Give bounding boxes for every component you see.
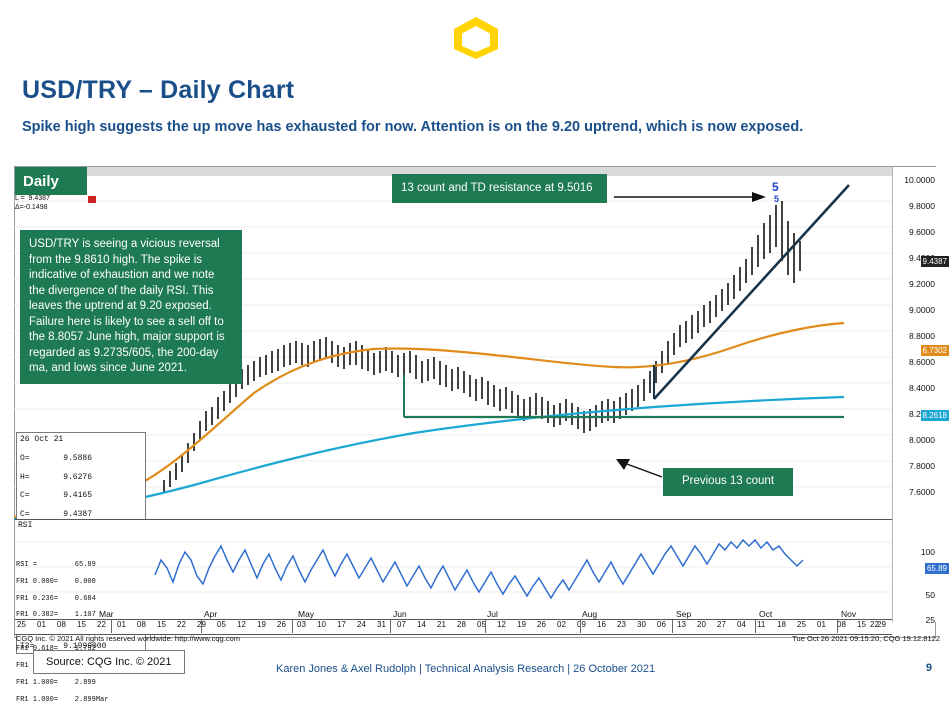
y-tick-0: 10.0000 bbox=[904, 175, 935, 185]
td-count-label-5-small: 5 bbox=[774, 194, 779, 204]
x-tick-6: 08 bbox=[137, 620, 146, 629]
x-month-may: May bbox=[298, 609, 314, 619]
x-month-nov: Nov bbox=[841, 609, 856, 619]
x-tick-25: 19 bbox=[517, 620, 526, 629]
y-tick-2: 9.6000 bbox=[909, 227, 935, 237]
x-tick-18: 31 bbox=[377, 620, 386, 629]
x-tick-36: 04 bbox=[737, 620, 746, 629]
x-tick-19: 07 bbox=[397, 620, 406, 629]
x-tick-38: 18 bbox=[777, 620, 786, 629]
x-month-jul: Jul bbox=[487, 609, 498, 619]
annotation-main-note: USD/TRY is seeing a vicious reversal fro… bbox=[20, 230, 242, 384]
x-tick-28: 09 bbox=[577, 620, 586, 629]
x-tick-37: 11 bbox=[757, 620, 765, 629]
rsi-plot bbox=[15, 520, 892, 619]
page-subtitle: Spike high suggests the up move has exha… bbox=[22, 116, 922, 138]
x-tick-13: 26 bbox=[277, 620, 286, 629]
price-tag-last: 9.4387 bbox=[921, 256, 949, 267]
x-tick-22: 28 bbox=[457, 620, 466, 629]
price-tag-support: 8.2618 bbox=[921, 410, 949, 421]
price-tag-rsi: 65.89 bbox=[925, 563, 949, 574]
x-tick-26: 26 bbox=[537, 620, 546, 629]
date-axis[interactable]: Mar Apr May Jun Jul Aug Sep Oct Nov 25 0… bbox=[15, 619, 892, 635]
author-credit: Karen Jones & Axel Rudolph | Technical A… bbox=[276, 663, 655, 675]
annotation-previous-count: Previous 13 count bbox=[663, 468, 793, 496]
rsi-tick-2: 50 bbox=[926, 590, 935, 600]
rsi-tick-3: 25 bbox=[926, 615, 935, 625]
x-tick-17: 24 bbox=[357, 620, 366, 629]
x-tick-34: 20 bbox=[697, 620, 706, 629]
source-box: Source: CQG Inc. © 2021 bbox=[33, 650, 185, 674]
x-tick-39: 25 bbox=[797, 620, 806, 629]
x-tick-2: 08 bbox=[57, 620, 66, 629]
quote-line-2: C= 9.4165 bbox=[20, 491, 92, 500]
quote-line-3: C= 9.4387 bbox=[20, 510, 92, 519]
y-tick-8: 8.4000 bbox=[909, 383, 935, 393]
price-tag-ma200: 6.7302 bbox=[921, 345, 949, 356]
x-tick-42: 15 bbox=[857, 620, 866, 629]
commerzbank-logo bbox=[448, 14, 504, 62]
x-tick-1: 01 bbox=[37, 620, 46, 629]
y-tick-7: 8.6000 bbox=[909, 357, 935, 367]
x-sep-5 bbox=[580, 620, 581, 633]
x-sep-0 bbox=[111, 620, 112, 633]
cqg-copyright: CGQ Inc. © 2021 All rights reserved worl… bbox=[16, 634, 240, 643]
x-tick-20: 14 bbox=[417, 620, 426, 629]
x-tick-0: 25 bbox=[17, 620, 26, 629]
x-tick-21: 21 bbox=[437, 620, 446, 629]
x-tick-44: 29 bbox=[877, 620, 886, 629]
x-tick-24: 12 bbox=[497, 620, 506, 629]
x-tick-3: 15 bbox=[77, 620, 86, 629]
rsi-line-8: FR1 1.000= 2.899Mar bbox=[16, 696, 108, 704]
x-tick-32: 06 bbox=[657, 620, 666, 629]
x-tick-27: 02 bbox=[557, 620, 566, 629]
x-tick-10: 05 bbox=[217, 620, 226, 629]
x-month-sep: Sep bbox=[676, 609, 691, 619]
x-month-oct: Oct bbox=[759, 609, 772, 619]
x-tick-31: 30 bbox=[637, 620, 646, 629]
x-tick-8: 22 bbox=[177, 620, 186, 629]
y-tick-10: 8.0000 bbox=[909, 435, 935, 445]
page-number: 9 bbox=[926, 662, 932, 674]
rsi-line-1: FR1 0.000= 0.000 bbox=[16, 578, 96, 586]
y-tick-6: 8.8000 bbox=[909, 331, 935, 341]
rsi-line-7: FR1 1.000= 2.899 bbox=[16, 679, 96, 687]
x-tick-35: 27 bbox=[717, 620, 726, 629]
rsi-line-0: RSI = 65.89 bbox=[16, 561, 96, 569]
annotation-td-note: 13 count and TD resistance at 9.5016 bbox=[392, 174, 607, 203]
x-sep-8 bbox=[837, 620, 838, 633]
x-tick-29: 16 bbox=[597, 620, 606, 629]
chart-timeframe-tab[interactable]: Daily bbox=[15, 167, 87, 195]
x-tick-14: 03 bbox=[297, 620, 306, 629]
quote-line-1: H= 9.6276 bbox=[20, 473, 92, 482]
y-tick-12: 7.6000 bbox=[909, 487, 935, 497]
x-tick-40: 01 bbox=[817, 620, 826, 629]
td-count-label-5: 5 bbox=[772, 180, 779, 194]
x-month-apr: Apr bbox=[204, 609, 217, 619]
x-month-aug: Aug bbox=[582, 609, 597, 619]
y-tick-4: 9.2000 bbox=[909, 279, 935, 289]
x-tick-15: 10 bbox=[317, 620, 326, 629]
page-title: USD/TRY – Daily Chart bbox=[22, 76, 294, 105]
x-sep-1 bbox=[201, 620, 202, 633]
x-month-jun: Jun bbox=[393, 609, 407, 619]
tab-indicator bbox=[88, 196, 96, 203]
rsi-pane[interactable]: RSI bbox=[15, 519, 892, 620]
x-tick-30: 23 bbox=[617, 620, 626, 629]
cqg-timestamp: Tue Oct 26 2021 09:15:20, CQG 19.12.8122 bbox=[792, 634, 940, 643]
x-sep-7 bbox=[755, 620, 756, 633]
x-tick-41: 08 bbox=[837, 620, 846, 629]
x-tick-5: 01 bbox=[117, 620, 126, 629]
y-tick-1: 9.8000 bbox=[909, 201, 935, 211]
x-tick-7: 15 bbox=[157, 620, 166, 629]
rsi-pane-label: RSI bbox=[18, 521, 32, 530]
x-tick-12: 19 bbox=[257, 620, 266, 629]
x-tick-33: 13 bbox=[677, 620, 686, 629]
x-month-mar: Mar bbox=[99, 609, 114, 619]
rsi-line-2: FR1 0.236= 0.684 bbox=[16, 595, 96, 603]
x-tick-11: 12 bbox=[237, 620, 246, 629]
x-sep-6 bbox=[672, 620, 673, 633]
x-sep-3 bbox=[390, 620, 391, 633]
x-tick-16: 17 bbox=[337, 620, 346, 629]
rsi-tick-0: 100 bbox=[921, 547, 935, 557]
y-tick-11: 7.8000 bbox=[909, 461, 935, 471]
price-axis[interactable]: 10.0000 9.8000 9.6000 9.4000 9.2000 9.00… bbox=[892, 167, 937, 622]
x-tick-4: 22 bbox=[97, 620, 106, 629]
chart-tab-readout: L = 9.4387 Δ=-0.1498 bbox=[15, 195, 50, 212]
quote-date: 26 Oct 21 bbox=[20, 435, 63, 444]
quote-line-0: O= 9.5886 bbox=[20, 454, 92, 463]
x-sep-2 bbox=[292, 620, 293, 633]
prev-arrow-line bbox=[624, 463, 662, 477]
uptrend-line bbox=[654, 185, 849, 399]
y-tick-5: 9.0000 bbox=[909, 305, 935, 315]
x-sep-4 bbox=[485, 620, 486, 633]
